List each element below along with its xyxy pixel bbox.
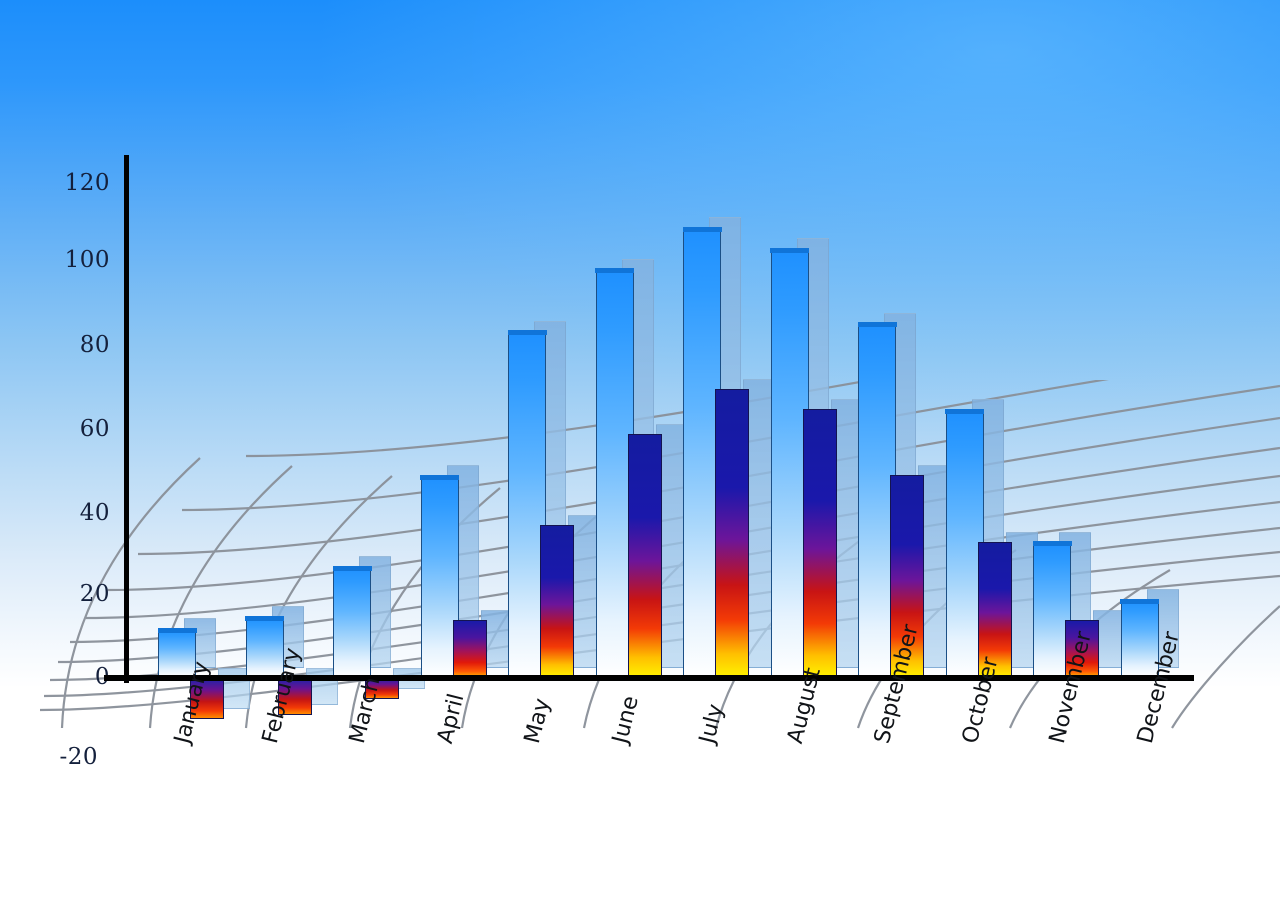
bar-cap [245,616,284,621]
y-tick-100: 100 [50,247,110,273]
bar-heat-june [628,434,662,678]
bar-cap [595,268,634,273]
x-label-march: March [345,675,385,746]
y-tick-60: 60 [50,416,110,442]
y-tick-80: 80 [50,332,110,358]
y-tick-0: 0 [50,664,110,690]
bar-cap [1120,599,1159,604]
y-tick-120: 120 [50,170,110,196]
chart-canvas: 120 100 80 60 40 20 0 -20 JanuaryFebruar… [0,0,1280,905]
bar-heat-august [803,409,837,678]
bar-cap [683,227,722,232]
bar-heat-july [715,389,749,678]
x-label-july: July [695,702,729,746]
x-axis-line [104,675,1194,681]
y-tick-neg20: -20 [38,744,98,770]
y-axis-line [124,155,129,683]
x-label-april: April [433,691,469,746]
bar-heat-april [453,620,487,678]
bar-cap [1033,541,1072,546]
x-label-may: May [520,696,555,746]
plot-area: 120 100 80 60 40 20 0 -20 JanuaryFebruar… [0,0,1280,905]
y-tick-20: 20 [50,581,110,607]
bar-blue-march [333,566,371,678]
bar-cap [420,475,459,480]
bar-cap [945,409,984,414]
bar-cap [508,330,547,335]
bar-cap [770,248,809,253]
bar-cap [158,628,197,633]
y-tick-40: 40 [50,500,110,526]
bar-cap [858,322,897,327]
bar-heat-may [540,525,574,678]
bar-cap [333,566,372,571]
x-label-june: June [608,694,644,747]
